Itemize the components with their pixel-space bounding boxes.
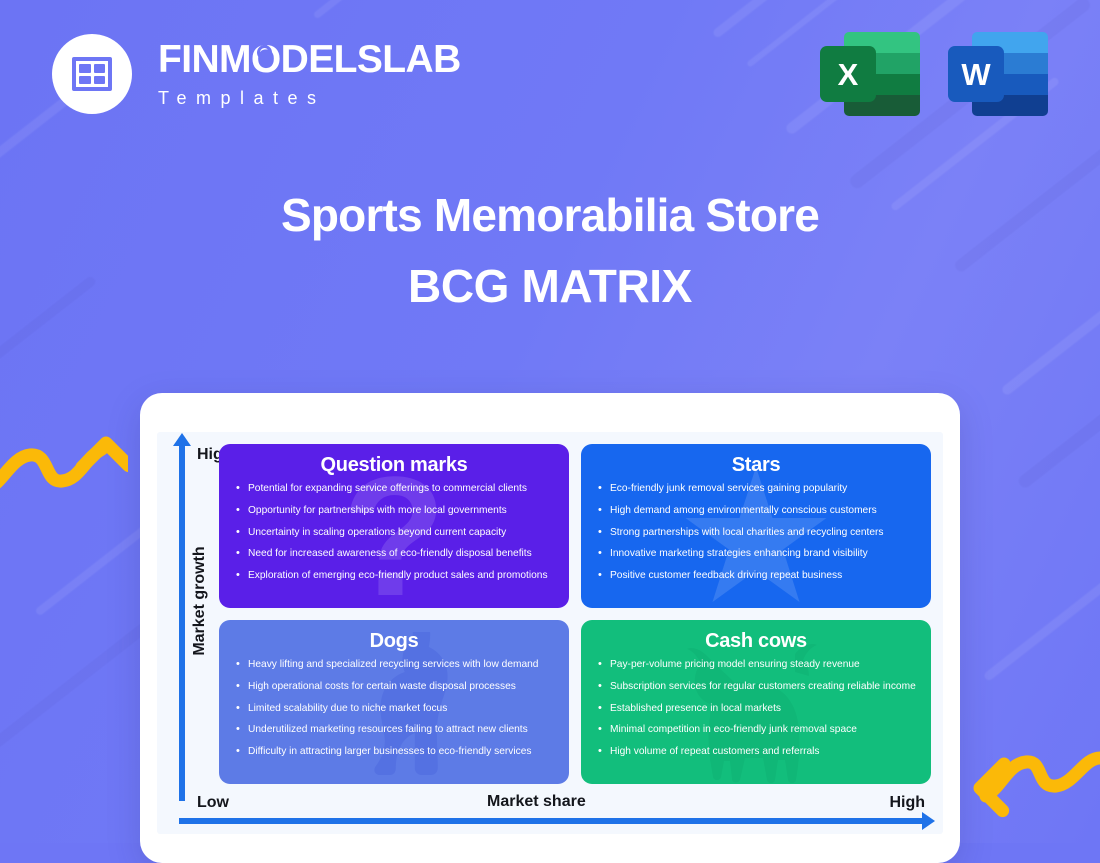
quadrant-stars[interactable]: Stars Eco-friendly junk removal services… bbox=[581, 444, 931, 608]
y-axis bbox=[179, 444, 185, 801]
list-item: High operational costs for certain waste… bbox=[235, 681, 557, 694]
quadrant-items: Pay-per-volume pricing model ensuring st… bbox=[593, 659, 919, 759]
squiggle-arrow-up-right-icon bbox=[0, 405, 128, 500]
word-icon-letter: W bbox=[948, 46, 1004, 102]
list-item: Difficulty in attracting larger business… bbox=[235, 746, 557, 759]
bcg-matrix: High Low Market growth Market share High… bbox=[157, 432, 943, 834]
list-item: Potential for expanding service offering… bbox=[235, 483, 557, 496]
quadrant-title: Dogs bbox=[231, 630, 557, 653]
grid-logo-icon bbox=[52, 34, 132, 114]
quadrant-grid: ? Question marks Potential for expanding… bbox=[219, 444, 931, 784]
list-item: Subscription services for regular custom… bbox=[597, 681, 919, 694]
list-item: Positive customer feedback driving repea… bbox=[597, 570, 919, 583]
page-title: Sports Memorabilia Store BCG MATRIX bbox=[0, 192, 1100, 309]
quadrant-title: Cash cows bbox=[593, 630, 919, 653]
page-header: FINMODELSLAB Templates X W bbox=[0, 0, 1100, 160]
list-item: Innovative marketing strategies enhancin… bbox=[597, 548, 919, 561]
brand-tagline: Templates bbox=[158, 88, 461, 109]
word-icon[interactable]: W bbox=[948, 24, 1048, 124]
format-icons: X W bbox=[820, 24, 1048, 124]
x-axis-high-label: High bbox=[889, 794, 925, 812]
list-item: Established presence in local markets bbox=[597, 703, 919, 716]
list-item: High demand among environmentally consci… bbox=[597, 505, 919, 518]
x-axis bbox=[179, 818, 924, 824]
list-item: High volume of repeat customers and refe… bbox=[597, 746, 919, 759]
brand-name: FINMODELSLAB bbox=[158, 40, 461, 79]
list-item: Limited scalability due to niche market … bbox=[235, 703, 557, 716]
x-axis-title: Market share bbox=[487, 793, 586, 811]
list-item: Opportunity for partnerships with more l… bbox=[235, 505, 557, 518]
quadrant-items: Potential for expanding service offering… bbox=[231, 483, 557, 583]
quadrant-items: Heavy lifting and specialized recycling … bbox=[231, 659, 557, 759]
quadrant-items: Eco-friendly junk removal services gaini… bbox=[593, 483, 919, 583]
squiggle-arrow-down-left-icon bbox=[962, 742, 1100, 842]
list-item: Underutilized marketing resources failin… bbox=[235, 724, 557, 737]
list-item: Need for increased awareness of eco-frie… bbox=[235, 548, 557, 561]
excel-icon-letter: X bbox=[820, 46, 876, 102]
list-item: Exploration of emerging eco-friendly pro… bbox=[235, 570, 557, 583]
y-axis-low-label: Low bbox=[197, 794, 229, 812]
quadrant-title: Question marks bbox=[231, 454, 557, 477]
quadrant-title: Stars bbox=[593, 454, 919, 477]
list-item: Minimal competition in eco-friendly junk… bbox=[597, 724, 919, 737]
quadrant-cash-cows[interactable]: Cash cows Pay-per-volume pricing model e… bbox=[581, 620, 931, 784]
quadrant-dogs[interactable]: Dogs Heavy lifting and specialized recyc… bbox=[219, 620, 569, 784]
matrix-card: High Low Market growth Market share High… bbox=[140, 393, 960, 863]
y-axis-title: Market growth bbox=[191, 536, 209, 666]
list-item: Pay-per-volume pricing model ensuring st… bbox=[597, 659, 919, 672]
quadrant-question-marks[interactable]: ? Question marks Potential for expanding… bbox=[219, 444, 569, 608]
excel-icon[interactable]: X bbox=[820, 24, 920, 124]
list-item: Strong partnerships with local charities… bbox=[597, 527, 919, 540]
list-item: Uncertainty in scaling operations beyond… bbox=[235, 527, 557, 540]
brand-logo[interactable]: FINMODELSLAB Templates bbox=[52, 34, 461, 114]
list-item: Eco-friendly junk removal services gaini… bbox=[597, 483, 919, 496]
list-item: Heavy lifting and specialized recycling … bbox=[235, 659, 557, 672]
title-line-1: Sports Memorabilia Store bbox=[0, 192, 1100, 238]
title-line-2: BCG MATRIX bbox=[0, 263, 1100, 309]
